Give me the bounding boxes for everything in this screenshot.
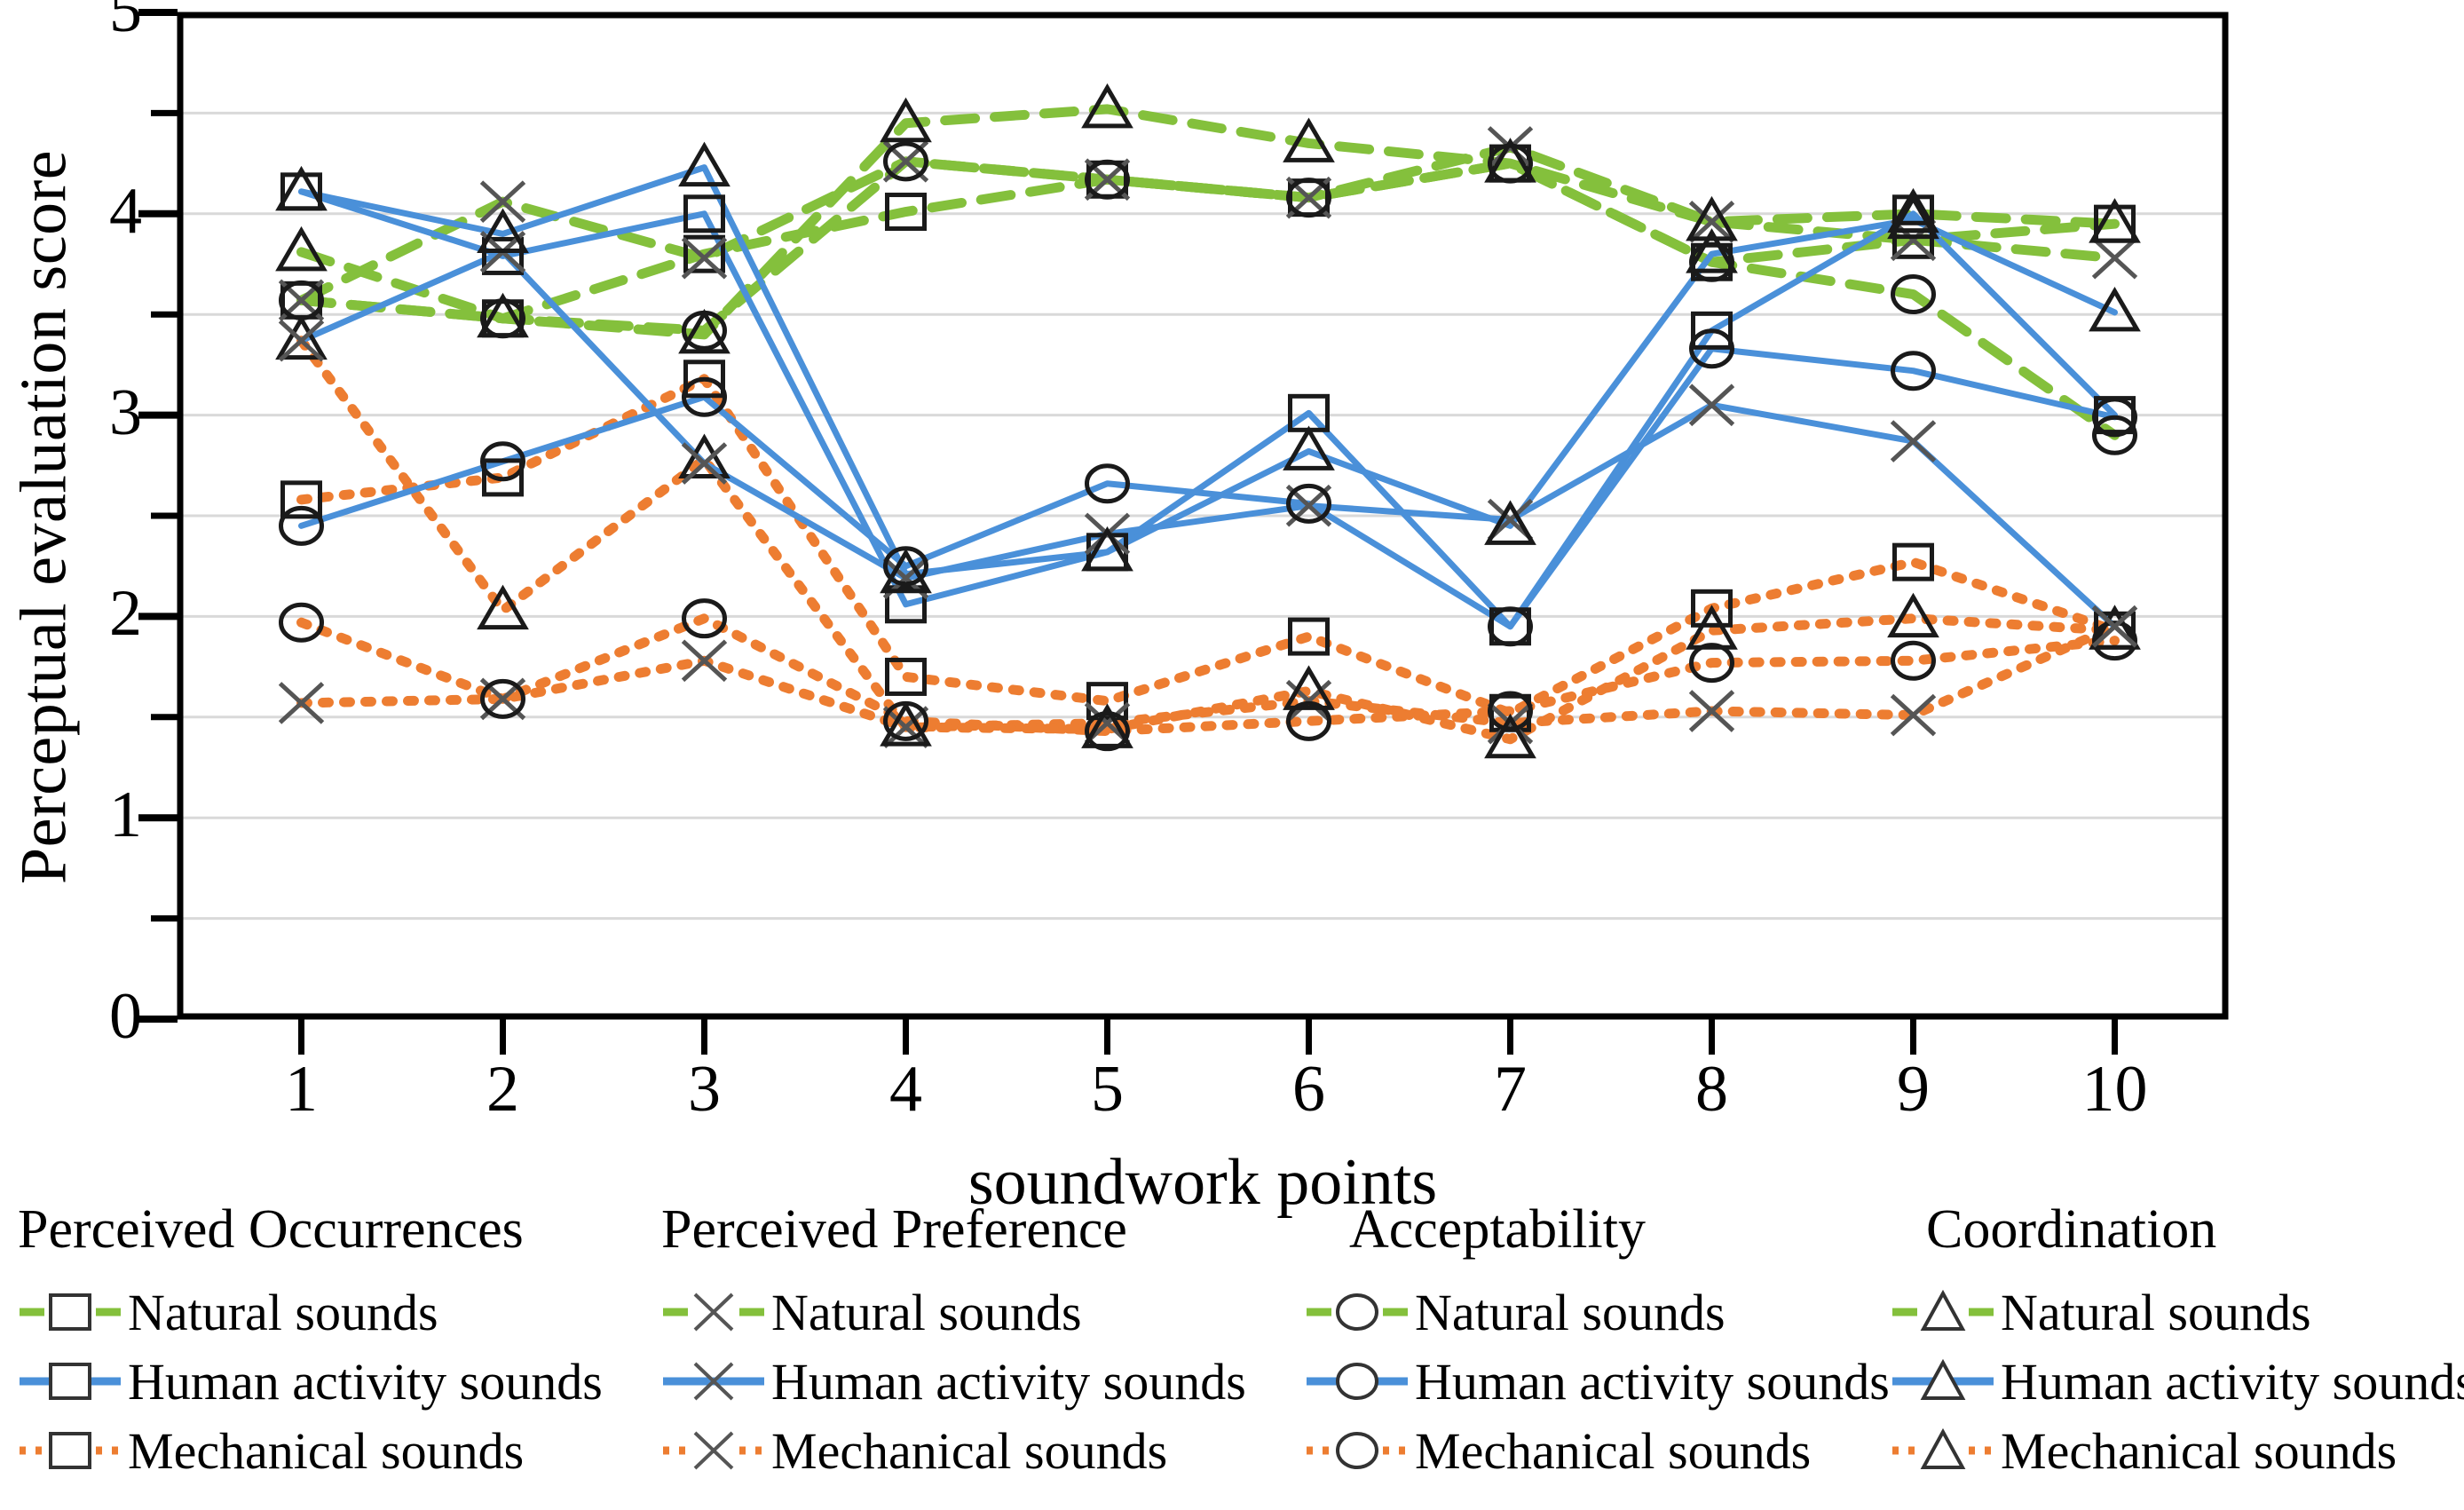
legend-item-label: Human activity sounds bbox=[2001, 1352, 2464, 1411]
marker-circle bbox=[684, 601, 725, 636]
marker-circle bbox=[1893, 643, 1934, 678]
legend-group-title: Perceived Occurrences bbox=[18, 1198, 603, 1261]
legend-key-icon bbox=[661, 1287, 766, 1337]
legend-key bbox=[661, 1356, 766, 1406]
y-tick-label: 5 bbox=[36, 0, 142, 43]
legend-item-label: Natural sounds bbox=[2001, 1283, 2311, 1342]
y-tick-label: 0 bbox=[36, 984, 142, 1049]
legend-key-icon bbox=[1305, 1426, 1410, 1475]
chart-legend: Perceived OccurrencesNatural soundsHuman… bbox=[0, 1198, 2464, 1509]
marker-circle bbox=[1087, 466, 1128, 502]
marker-circle bbox=[1087, 162, 1128, 197]
legend-item[interactable]: Human activity sounds bbox=[661, 1347, 1246, 1416]
legend-item[interactable]: Natural sounds bbox=[1891, 1277, 2464, 1347]
legend-item[interactable]: Mechanical sounds bbox=[1305, 1416, 1890, 1485]
legend-group-4: CoordinationNatural soundsHuman activity… bbox=[1891, 1198, 2464, 1485]
legend-marker-circle bbox=[1338, 1364, 1377, 1398]
marker-circle bbox=[1289, 180, 1330, 216]
legend-marker-square bbox=[51, 1295, 90, 1329]
legend-key bbox=[18, 1356, 122, 1406]
legend-item[interactable]: Human activity sounds bbox=[1891, 1347, 2464, 1416]
marker-circle bbox=[483, 681, 524, 716]
legend-key bbox=[1891, 1287, 1995, 1337]
legend-key bbox=[1305, 1426, 1410, 1475]
legend-key bbox=[1891, 1356, 1995, 1406]
legend-item[interactable]: Mechanical sounds bbox=[661, 1416, 1246, 1485]
legend-item[interactable]: Human activity sounds bbox=[1305, 1347, 1890, 1416]
marker-square bbox=[686, 237, 723, 271]
legend-marker-cross bbox=[695, 1433, 732, 1468]
marker-triangle bbox=[683, 146, 727, 185]
marker-circle bbox=[1490, 609, 1531, 644]
x-tick-label: 8 bbox=[1641, 1056, 1783, 1122]
legend-key-icon bbox=[1891, 1356, 1995, 1406]
marker-triangle bbox=[1287, 430, 1331, 468]
legend-item-label: Natural sounds bbox=[128, 1283, 438, 1342]
series-line bbox=[302, 627, 2115, 727]
marker-circle bbox=[281, 605, 322, 640]
y-tick-label: 2 bbox=[36, 581, 142, 646]
chart-root: Perceptual evaluation score 012345 12345… bbox=[0, 0, 2464, 1510]
legend-item-label: Mechanical sounds bbox=[1415, 1421, 1811, 1481]
legend-item[interactable]: Natural sounds bbox=[1305, 1277, 1890, 1347]
legend-group-3: AcceptabilityNatural soundsHuman activit… bbox=[1305, 1198, 1890, 1485]
legend-marker-square bbox=[51, 1434, 90, 1467]
y-tick-label: 4 bbox=[36, 178, 142, 244]
legend-group-1: Perceived OccurrencesNatural soundsHuman… bbox=[18, 1198, 603, 1485]
marker-circle bbox=[483, 444, 524, 479]
x-tick-label: 7 bbox=[1440, 1056, 1582, 1122]
legend-key bbox=[18, 1426, 122, 1475]
marker-square bbox=[1291, 396, 1328, 430]
legend-marker-triangle bbox=[1923, 1432, 1963, 1467]
y-tick-label: 1 bbox=[36, 782, 142, 848]
plot-area: 12345678910 soundwork points bbox=[178, 12, 2228, 1019]
y-axis-title: Perceptual evaluation score bbox=[7, 0, 83, 1041]
marker-circle bbox=[1893, 353, 1934, 389]
x-tick-label: 10 bbox=[2044, 1056, 2186, 1122]
series-line bbox=[302, 147, 2115, 300]
marker-circle bbox=[1692, 645, 1733, 681]
legend-item-label: Mechanical sounds bbox=[128, 1421, 524, 1481]
marker-square bbox=[1291, 620, 1328, 653]
legend-key-icon bbox=[661, 1356, 766, 1406]
legend-key-icon bbox=[18, 1356, 122, 1406]
legend-group-2: Perceived PreferenceNatural soundsHuman … bbox=[661, 1198, 1246, 1485]
legend-key-icon bbox=[1891, 1287, 1995, 1337]
legend-item-label: Mechanical sounds bbox=[2001, 1421, 2397, 1481]
legend-item[interactable]: Natural sounds bbox=[661, 1277, 1246, 1347]
legend-item[interactable]: Human activity sounds bbox=[18, 1347, 603, 1416]
legend-item-label: Natural sounds bbox=[1415, 1283, 1726, 1342]
series-line bbox=[302, 168, 2115, 574]
legend-key bbox=[661, 1426, 766, 1475]
legend-group-title: Acceptability bbox=[1349, 1198, 1890, 1261]
x-tick-label: 4 bbox=[835, 1056, 977, 1122]
marker-circle bbox=[1289, 486, 1330, 521]
x-tick-label: 2 bbox=[432, 1056, 574, 1122]
marker-square bbox=[888, 660, 925, 693]
legend-key-icon bbox=[1305, 1287, 1410, 1337]
legend-item[interactable]: Mechanical sounds bbox=[1891, 1416, 2464, 1485]
legend-marker-triangle bbox=[1923, 1293, 1963, 1329]
legend-key-icon bbox=[18, 1287, 122, 1337]
x-tick-label: 3 bbox=[634, 1056, 776, 1122]
legend-key bbox=[1305, 1356, 1410, 1406]
legend-key bbox=[18, 1287, 122, 1337]
legend-item-label: Human activity sounds bbox=[1415, 1352, 1890, 1411]
legend-group-title: Coordination bbox=[1926, 1198, 2464, 1261]
x-tick-label: 9 bbox=[1843, 1056, 1985, 1122]
legend-item-label: Natural sounds bbox=[771, 1283, 1082, 1342]
marker-circle bbox=[1692, 331, 1733, 367]
legend-key-icon bbox=[1305, 1356, 1410, 1406]
x-tick-label: 6 bbox=[1238, 1056, 1380, 1122]
series-line bbox=[302, 349, 2115, 627]
legend-key-icon bbox=[661, 1426, 766, 1475]
x-tick-label: 1 bbox=[231, 1056, 373, 1122]
legend-marker-square bbox=[51, 1364, 90, 1398]
legend-item-label: Human activity sounds bbox=[128, 1352, 603, 1411]
legend-group-title: Perceived Preference bbox=[661, 1198, 1246, 1261]
chart-svg bbox=[178, 12, 2228, 1019]
legend-key-icon bbox=[18, 1426, 122, 1475]
marker-circle bbox=[886, 144, 927, 179]
marker-triangle bbox=[280, 231, 324, 269]
marker-square bbox=[686, 197, 723, 231]
legend-key bbox=[1305, 1287, 1410, 1337]
legend-marker-cross bbox=[695, 1294, 732, 1330]
y-tick-label: 3 bbox=[36, 380, 142, 446]
marker-circle bbox=[281, 282, 322, 318]
marker-triangle bbox=[2093, 291, 2137, 329]
legend-item[interactable]: Natural sounds bbox=[18, 1277, 603, 1347]
series-lines bbox=[302, 109, 2115, 739]
legend-key bbox=[661, 1287, 766, 1337]
x-tick-label: 5 bbox=[1037, 1056, 1179, 1122]
legend-key bbox=[1891, 1426, 1995, 1475]
legend-item-label: Human activity sounds bbox=[771, 1352, 1246, 1411]
legend-marker-circle bbox=[1338, 1434, 1377, 1467]
legend-item-label: Mechanical sounds bbox=[771, 1421, 1167, 1481]
marker-square bbox=[1895, 545, 1932, 579]
legend-item[interactable]: Mechanical sounds bbox=[18, 1416, 603, 1485]
series-line bbox=[302, 341, 2115, 739]
marker-circle bbox=[2095, 399, 2136, 435]
marker-circle bbox=[684, 379, 725, 415]
marker-circle bbox=[1893, 277, 1934, 312]
marker-square bbox=[888, 195, 925, 229]
marker-circle bbox=[281, 508, 322, 543]
legend-marker-circle bbox=[1338, 1295, 1377, 1329]
legend-key-icon bbox=[1891, 1426, 1995, 1475]
